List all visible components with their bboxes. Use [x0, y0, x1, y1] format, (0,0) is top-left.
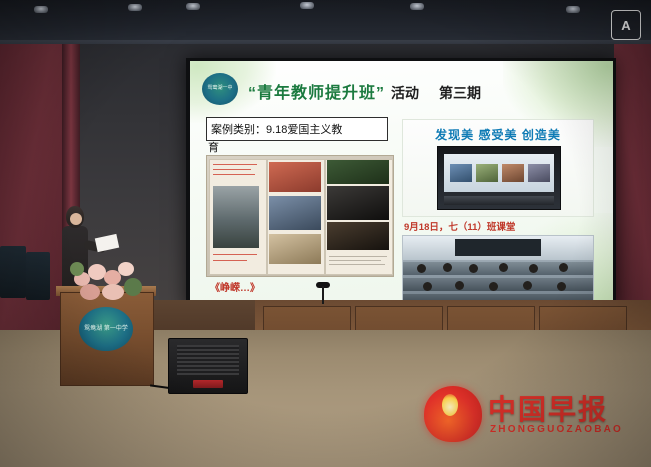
slide-title-term: 第三期: [439, 83, 481, 103]
notebook-collage-photo: [206, 155, 394, 277]
seat: [26, 252, 50, 300]
collage-photo: [327, 222, 389, 250]
corner-icon-label: A: [621, 18, 630, 33]
speaker-brand-badge: [193, 380, 223, 388]
watermark-brand-cn: 中国早报: [488, 388, 608, 428]
stage-monitor-speaker: [168, 338, 248, 394]
right-panel-title: 发现美 感受美 创造美: [403, 126, 593, 143]
thumbnail: [502, 164, 524, 182]
ceiling-spotlight-icon: [128, 4, 142, 11]
projection-screen: 鸳鸯湖一中 “青年教师提升班” 活动 第三期 案例类别：9.18爱国主义教 育: [190, 61, 613, 307]
ceiling-spotlight-icon: [566, 6, 580, 13]
collage-photo: [269, 196, 321, 230]
collage-photo: [327, 160, 389, 184]
case-category-label: 案例类别：9.18爱国主义教: [211, 121, 342, 137]
thumbnail: [476, 164, 498, 182]
slide-title-activity: 活动: [391, 83, 419, 103]
podium-emblem-icon: 鸳鸯湖 第一中学: [79, 307, 133, 351]
collage-photo: [269, 234, 321, 264]
ceiling-spotlight-icon: [186, 3, 200, 10]
thumbnail: [528, 164, 550, 182]
slide-title-main: “青年教师提升班”: [248, 79, 385, 103]
collage-photo: [269, 162, 321, 192]
app-corner-icon[interactable]: A: [611, 10, 641, 40]
right-wall: [614, 44, 651, 344]
screenshot-content: [444, 154, 554, 192]
screenshot-dock: [444, 196, 554, 205]
ceiling-spotlight-icon: [410, 3, 424, 10]
seat: [0, 246, 26, 298]
watermark-brand-pinyin: ZHONGGUOZAOBAO: [490, 424, 623, 435]
right-caption: 9月18日，七（11）班课堂: [404, 219, 515, 233]
podium-emblem-text: 鸳鸯湖 第一中学: [84, 326, 128, 333]
speaker-grille: [177, 345, 239, 375]
speaker-face: [70, 213, 82, 225]
case-category-box: 案例类别：9.18爱国主义教: [206, 117, 388, 141]
ceiling-spotlight-icon: [34, 6, 48, 13]
school-emblem-icon: 鸳鸯湖一中: [202, 73, 238, 105]
classroom-photo: [402, 235, 594, 307]
right-slide-panel: 发现美 感受美 创造美: [402, 119, 594, 217]
photo-scene: 鸳鸯湖一中 “青年教师提升班” 活动 第三期 案例类别：9.18爱国主义教 育: [0, 0, 651, 467]
school-emblem-text: 鸳鸯湖一中: [207, 86, 232, 92]
left-caption: 《峥嵘…》: [210, 279, 260, 294]
case-category-label-cont: 育: [208, 139, 219, 155]
classroom-screenshot: [437, 146, 561, 210]
thumbnail: [450, 164, 472, 182]
statue-photo: [213, 186, 259, 248]
microphone-stand: [322, 286, 324, 304]
flame-icon: [424, 386, 482, 442]
watermark-logo: 中国早报 ZHONGGUOZAOBAO: [424, 386, 636, 448]
flower-arrangement: [72, 258, 146, 302]
podium: 鸳鸯湖 第一中学: [60, 292, 154, 386]
ceiling-spotlight-icon: [300, 2, 314, 9]
collage-photo: [327, 186, 389, 220]
classroom-screen: [455, 239, 541, 256]
slide-title: “青年教师提升班” 活动 第三期: [248, 79, 588, 103]
